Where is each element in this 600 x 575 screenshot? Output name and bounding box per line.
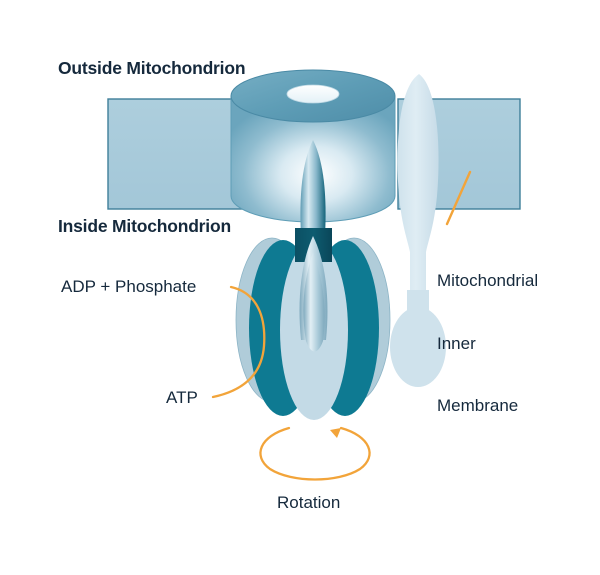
- rotation-arrow: [260, 428, 369, 480]
- rotor-pore: [287, 85, 339, 103]
- label-rotation: Rotation: [277, 493, 340, 514]
- label-adp-phosphate: ADP + Phosphate: [61, 277, 196, 298]
- label-inside-mitochondrion: Inside Mitochondrion: [58, 216, 231, 237]
- label-atp: ATP: [166, 388, 198, 409]
- membrane-label-line-3: Membrane: [437, 396, 538, 417]
- membrane-label-line-1: Mitochondrial: [437, 271, 538, 292]
- diagram-canvas: Outside Mitochondrion Inside Mitochondri…: [0, 0, 600, 575]
- label-outside-mitochondrion: Outside Mitochondrion: [58, 58, 245, 79]
- membrane-label-line-2: Inner: [437, 334, 538, 355]
- label-mitochondrial-inner-membrane: Mitochondrial Inner Membrane: [437, 230, 538, 458]
